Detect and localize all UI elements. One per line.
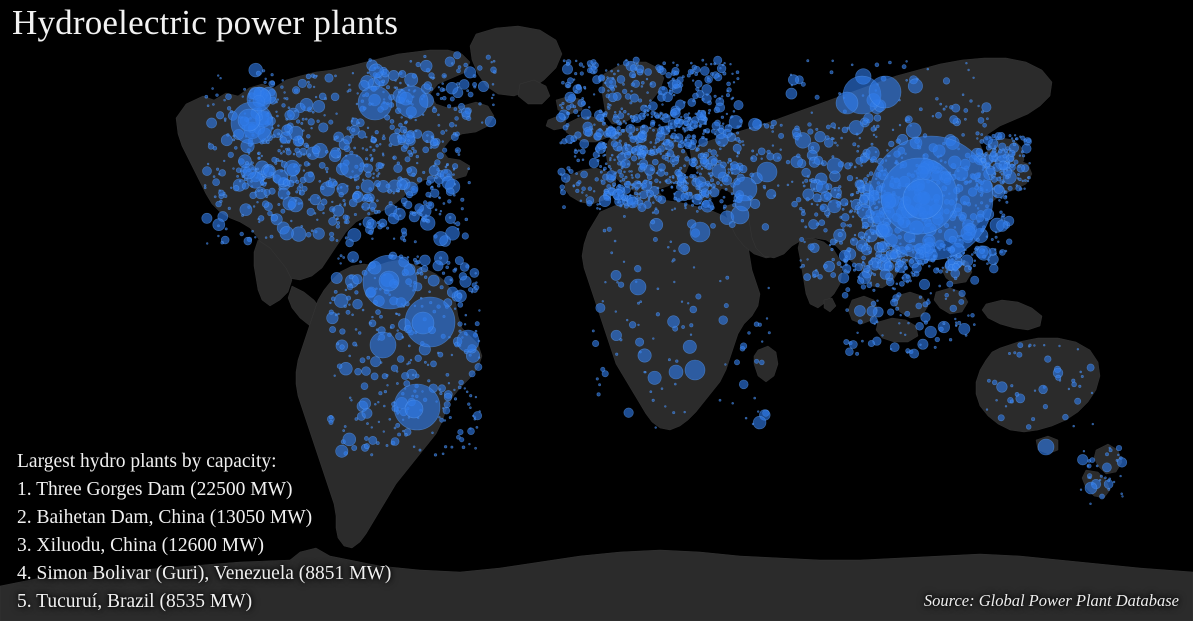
plant-bubble xyxy=(728,158,731,161)
plant-bubble xyxy=(1002,214,1005,217)
plant-bubble xyxy=(678,144,681,147)
plant-bubble xyxy=(811,146,814,149)
plant-bubble xyxy=(389,70,399,80)
plant-bubble xyxy=(831,248,834,251)
plant-bubble xyxy=(427,364,429,366)
plant-bubble xyxy=(413,212,415,214)
plant-bubble xyxy=(876,283,880,287)
plant-bubble xyxy=(861,340,863,342)
plant-bubble xyxy=(954,277,957,280)
plant-bubble xyxy=(595,178,599,182)
plant-bubble xyxy=(905,311,910,316)
plant-bubble xyxy=(1077,348,1079,350)
plant-bubble xyxy=(1099,479,1101,481)
plant-bubble xyxy=(892,129,894,131)
plant-bubble xyxy=(407,168,412,173)
plant-bubble xyxy=(631,184,633,186)
plant-bubble xyxy=(317,203,324,210)
plant-bubble xyxy=(561,107,563,109)
plant-bubble xyxy=(648,199,650,201)
plant-bubble xyxy=(850,194,853,197)
plant-bubble xyxy=(916,322,924,330)
plant-bubble xyxy=(576,173,578,175)
plant-bubble xyxy=(651,116,653,118)
plant-bubble xyxy=(475,282,477,284)
plant-bubble xyxy=(692,80,694,82)
plant-bubble xyxy=(391,438,399,446)
plant-bubble xyxy=(723,196,725,198)
plant-bubble xyxy=(875,63,879,67)
plant-bubble xyxy=(1024,188,1026,190)
plant-bubble xyxy=(685,137,687,139)
map-figure: Hydroelectric power plants Largest hydro… xyxy=(0,0,1193,621)
plant-bubble xyxy=(329,120,333,124)
plant-bubble xyxy=(216,168,219,171)
plant-bubble xyxy=(369,64,383,78)
plant-bubble xyxy=(224,195,227,198)
plant-bubble xyxy=(728,171,730,173)
plant-bubble xyxy=(639,146,642,149)
plant-bubble xyxy=(426,140,428,142)
plant-bubble xyxy=(1015,392,1019,396)
plant-bubble xyxy=(732,402,734,404)
plant-bubble xyxy=(720,184,722,186)
plant-bubble xyxy=(396,423,400,427)
plant-bubble xyxy=(989,264,998,273)
plant-bubble xyxy=(597,204,599,206)
plant-bubble xyxy=(693,136,695,138)
plant-bubble xyxy=(261,155,263,157)
plant-bubble xyxy=(390,324,394,328)
plant-bubble xyxy=(221,241,224,244)
plant-bubble xyxy=(719,316,728,325)
plant-bubble-major xyxy=(1085,482,1097,494)
plant-bubble xyxy=(825,136,829,140)
plant-bubble xyxy=(829,244,831,246)
plant-bubble xyxy=(329,310,334,315)
plant-bubble xyxy=(649,100,651,102)
plant-bubble xyxy=(459,79,469,89)
plant-bubble xyxy=(356,103,358,105)
plant-bubble xyxy=(560,190,565,195)
plant-bubble xyxy=(407,256,409,258)
plant-bubble xyxy=(573,79,575,81)
plant-bubble xyxy=(652,399,655,402)
plant-bubble xyxy=(675,157,679,161)
plant-bubble xyxy=(394,164,403,173)
plant-bubble xyxy=(405,157,410,162)
plant-bubble xyxy=(962,133,965,136)
plant-bubble xyxy=(701,189,709,197)
plant-bubble xyxy=(492,104,494,106)
plant-bubble xyxy=(640,191,648,199)
plant-bubble xyxy=(352,72,354,74)
plant-bubble xyxy=(831,123,836,128)
plant-bubble xyxy=(649,127,651,129)
plant-bubble xyxy=(897,261,903,267)
plant-bubble xyxy=(678,169,680,171)
plant-bubble xyxy=(953,289,955,291)
plant-bubble xyxy=(726,93,729,96)
plant-bubble xyxy=(603,113,605,115)
plant-bubble-major xyxy=(836,92,858,114)
plant-bubble xyxy=(627,113,629,115)
plant-bubble xyxy=(861,165,863,167)
plant-bubble xyxy=(241,214,243,216)
plant-bubble xyxy=(345,289,347,291)
plant-bubble xyxy=(588,187,592,191)
plant-bubble xyxy=(442,148,446,152)
plant-bubble xyxy=(439,389,441,391)
plant-bubble xyxy=(636,63,638,65)
plant-bubble xyxy=(734,100,743,109)
plant-bubble xyxy=(245,162,248,165)
legend-item-1: 1. Three Gorges Dam (22500 MW) xyxy=(17,476,391,504)
plant-bubble xyxy=(284,92,286,94)
plant-bubble xyxy=(719,98,721,100)
plant-bubble xyxy=(375,139,377,141)
plant-bubble xyxy=(869,251,872,254)
plant-bubble xyxy=(613,189,624,200)
plant-bubble xyxy=(711,150,717,156)
plant-bubble xyxy=(604,154,606,156)
plant-bubble xyxy=(443,202,445,204)
plant-bubble xyxy=(946,271,948,273)
plant-bubble xyxy=(399,70,406,77)
plant-bubble xyxy=(631,90,633,92)
plant-bubble xyxy=(952,104,960,112)
plant-bubble xyxy=(672,411,674,413)
plant-bubble xyxy=(271,73,274,76)
plant-bubble xyxy=(868,236,870,238)
plant-bubble xyxy=(846,224,848,226)
plant-bubble xyxy=(622,89,627,94)
plant-bubble xyxy=(224,99,226,101)
plant-bubble xyxy=(859,137,861,139)
plant-bubble xyxy=(260,181,264,185)
plant-bubble xyxy=(674,130,676,132)
plant-bubble xyxy=(777,185,779,187)
plant-bubble xyxy=(698,153,704,159)
plant-bubble xyxy=(479,310,481,312)
plant-bubble xyxy=(574,72,577,75)
plant-bubble xyxy=(689,129,691,131)
plant-bubble xyxy=(578,180,582,184)
plant-bubble xyxy=(468,428,475,435)
plant-bubble xyxy=(631,171,633,173)
plant-bubble xyxy=(630,94,638,102)
plant-bubble xyxy=(742,141,744,143)
plant-bubble xyxy=(692,93,698,99)
plant-bubble xyxy=(754,397,756,399)
plant-bubble xyxy=(371,238,373,240)
plant-bubble xyxy=(306,74,311,79)
plant-bubble xyxy=(632,120,634,122)
plant-bubble xyxy=(863,186,865,188)
plant-bubble xyxy=(249,63,263,77)
plant-bubble xyxy=(428,380,431,383)
plant-bubble xyxy=(446,266,449,269)
plant-bubble xyxy=(1099,494,1104,499)
plant-bubble xyxy=(424,55,427,58)
plant-bubble xyxy=(444,401,450,407)
plant-bubble xyxy=(405,433,408,436)
plant-bubble xyxy=(386,227,388,229)
plant-bubble xyxy=(671,108,681,118)
plant-bubble xyxy=(608,93,617,102)
plant-bubble xyxy=(837,145,839,147)
plant-bubble xyxy=(665,172,668,175)
plant-bubble xyxy=(439,257,441,259)
plant-bubble xyxy=(935,97,938,100)
plant-bubble xyxy=(877,262,879,264)
plant-bubble xyxy=(459,380,464,385)
plant-bubble xyxy=(772,131,774,133)
plant-bubble xyxy=(340,329,346,335)
plant-bubble xyxy=(660,66,664,70)
plant-bubble xyxy=(280,137,287,144)
plant-bubble xyxy=(890,251,898,259)
plant-bubble xyxy=(340,255,342,257)
plant-bubble xyxy=(290,220,292,222)
plant-bubble xyxy=(412,374,414,376)
plant-bubble xyxy=(386,444,388,446)
plant-bubble xyxy=(684,165,686,167)
plant-bubble xyxy=(449,216,451,218)
plant-bubble xyxy=(258,157,261,160)
plant-bubble xyxy=(718,160,721,163)
plant-bubble-major xyxy=(247,87,271,111)
plant-bubble xyxy=(340,345,345,350)
plant-bubble xyxy=(362,367,371,376)
plant-bubble xyxy=(906,281,908,283)
plant-bubble xyxy=(592,330,594,332)
legend-item-5: 5. Tucuruí, Brazil (8535 MW) xyxy=(17,588,391,616)
plant-bubble xyxy=(806,198,810,202)
plant-bubble xyxy=(638,157,640,159)
plant-bubble xyxy=(890,299,897,306)
plant-bubble xyxy=(642,125,645,128)
plant-bubble xyxy=(352,260,354,262)
plant-bubble xyxy=(1096,465,1098,467)
plant-bubble xyxy=(838,273,849,284)
plant-bubble xyxy=(802,168,811,177)
plant-bubble xyxy=(455,125,457,127)
plant-bubble xyxy=(575,60,577,62)
plant-bubble xyxy=(587,68,592,73)
plant-bubble xyxy=(817,204,819,206)
plant-bubble xyxy=(962,94,964,96)
plant-bubble xyxy=(464,387,466,389)
plant-bubble xyxy=(602,122,605,125)
plant-bubble xyxy=(415,130,417,132)
plant-bubble xyxy=(228,207,231,210)
plant-bubble xyxy=(583,86,585,88)
plant-bubble xyxy=(413,150,416,153)
plant-bubble xyxy=(280,152,282,154)
plant-bubble xyxy=(935,337,940,342)
plant-bubble xyxy=(576,85,581,90)
plant-bubble xyxy=(1031,417,1034,420)
plant-bubble xyxy=(349,304,351,306)
plant-bubble xyxy=(664,405,666,407)
plant-bubble xyxy=(376,162,383,169)
plant-bubble xyxy=(437,114,439,116)
plant-bubble xyxy=(705,64,707,66)
plant-bubble xyxy=(334,375,336,377)
plant-bubble xyxy=(886,149,888,151)
plant-bubble xyxy=(702,94,711,103)
plant-bubble xyxy=(714,95,717,98)
plant-bubble xyxy=(647,114,649,116)
plant-bubble xyxy=(389,418,391,420)
plant-bubble xyxy=(615,172,617,174)
plant-bubble xyxy=(416,155,419,158)
plant-bubble xyxy=(1019,155,1021,157)
plant-bubble xyxy=(983,153,986,156)
plant-bubble xyxy=(811,203,813,205)
plant-bubble xyxy=(1034,345,1036,347)
plant-bubble xyxy=(857,150,859,152)
plant-bubble xyxy=(997,241,999,243)
plant-bubble xyxy=(788,75,798,85)
plant-bubble-major xyxy=(457,330,479,352)
plant-bubble xyxy=(660,153,662,155)
plant-bubble xyxy=(283,151,285,153)
plant-bubble xyxy=(673,281,675,283)
plant-bubble xyxy=(653,237,657,241)
plant-bubble xyxy=(786,88,797,99)
plant-bubble xyxy=(655,427,657,429)
plant-bubble xyxy=(832,258,835,261)
plant-bubble xyxy=(354,147,356,149)
plant-bubble xyxy=(323,212,325,214)
plant-bubble xyxy=(862,261,864,263)
plant-bubble xyxy=(464,63,468,67)
plant-bubble xyxy=(673,155,675,157)
plant-bubble xyxy=(998,415,1004,421)
plant-bubble xyxy=(443,407,450,414)
plant-bubble xyxy=(962,263,964,265)
plant-bubble xyxy=(268,211,273,216)
plant-bubble xyxy=(599,87,605,93)
plant-bubble xyxy=(468,443,470,445)
plant-bubble xyxy=(719,280,721,282)
plant-bubble xyxy=(469,371,475,377)
plant-bubble xyxy=(372,177,374,179)
plant-bubble xyxy=(740,120,743,123)
plant-bubble xyxy=(467,403,470,406)
plant-bubble xyxy=(857,145,859,147)
plant-bubble xyxy=(346,239,354,247)
plant-bubble xyxy=(331,272,342,283)
plant-bubble xyxy=(973,264,976,267)
plant-bubble xyxy=(304,172,315,183)
plant-bubble xyxy=(882,334,884,336)
plant-bubble xyxy=(566,105,570,109)
plant-bubble xyxy=(308,199,310,201)
plant-bubble xyxy=(643,157,645,159)
plant-bubble xyxy=(638,349,651,362)
plant-bubble xyxy=(683,340,696,353)
plant-bubble xyxy=(752,150,754,152)
plant-bubble xyxy=(286,97,289,100)
plant-bubble xyxy=(475,363,482,370)
plant-bubble xyxy=(715,103,724,112)
plant-bubble xyxy=(986,236,988,238)
plant-bubble xyxy=(467,90,469,92)
plant-bubble xyxy=(326,171,328,173)
plant-bubble xyxy=(849,120,863,134)
plant-bubble xyxy=(877,242,879,244)
plant-bubble xyxy=(438,196,440,198)
plant-bubble xyxy=(716,155,718,157)
plant-bubble xyxy=(257,153,259,155)
plant-bubble xyxy=(702,133,704,135)
plant-bubble xyxy=(376,175,378,177)
plant-bubble xyxy=(1006,201,1008,203)
plant-bubble xyxy=(830,239,836,245)
plant-bubble xyxy=(1008,186,1012,190)
plant-bubble-major xyxy=(1038,439,1054,455)
plant-bubble xyxy=(676,64,678,66)
plant-bubble xyxy=(386,86,389,89)
plant-bubble xyxy=(444,75,446,77)
plant-bubble xyxy=(276,115,278,117)
plant-bubble xyxy=(312,111,314,113)
plant-bubble xyxy=(376,144,379,147)
plant-bubble xyxy=(955,324,957,326)
plant-bubble xyxy=(722,175,732,185)
plant-bubble xyxy=(566,62,569,65)
plant-bubble xyxy=(608,103,610,105)
plant-bubble xyxy=(450,97,454,101)
plant-bubble xyxy=(805,226,807,228)
plant-bubble-major xyxy=(405,400,423,418)
plant-bubble xyxy=(837,262,841,266)
plant-bubble xyxy=(1024,179,1026,181)
plant-bubble xyxy=(701,200,713,212)
plant-bubble xyxy=(615,353,618,356)
plant-bubble xyxy=(313,228,325,240)
plant-bubble xyxy=(403,130,406,133)
plant-bubble xyxy=(813,188,815,190)
plant-bubble xyxy=(278,133,280,135)
plant-bubble xyxy=(581,109,591,119)
plant-bubble xyxy=(603,167,606,170)
plant-bubble xyxy=(684,139,692,147)
plant-bubble xyxy=(430,147,432,149)
plant-bubble xyxy=(313,100,325,112)
plant-bubble xyxy=(833,138,835,140)
plant-bubble xyxy=(1014,352,1016,354)
plant-bubble xyxy=(438,416,440,418)
plant-bubble xyxy=(219,170,226,177)
plant-bubble xyxy=(452,163,458,169)
plant-bubble xyxy=(430,187,433,190)
plant-bubble xyxy=(308,119,315,126)
plant-bubble xyxy=(493,60,495,62)
plant-bubble xyxy=(761,341,763,343)
plant-bubble xyxy=(860,156,867,163)
plant-bubble xyxy=(701,168,703,170)
plant-bubble xyxy=(437,184,440,187)
plant-bubble xyxy=(562,102,565,105)
plant-bubble xyxy=(224,118,226,120)
plant-bubble xyxy=(446,82,458,94)
plant-bubble xyxy=(792,201,798,207)
plant-bubble xyxy=(847,247,851,251)
